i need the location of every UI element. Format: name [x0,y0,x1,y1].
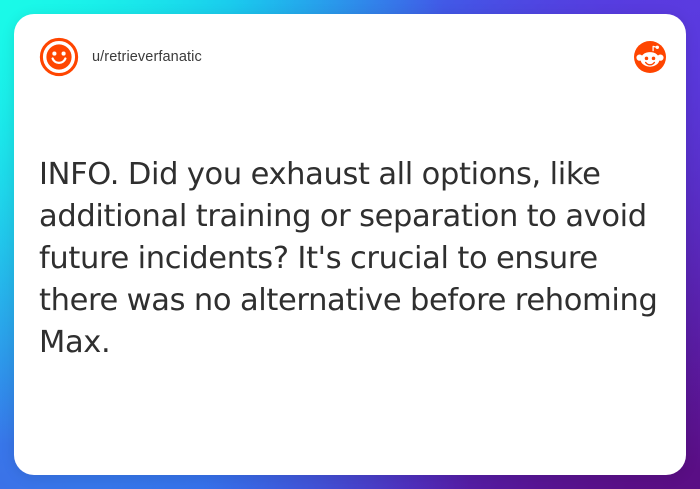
post-text: INFO. Did you exhaust all options, like … [39,154,664,364]
smiley-face-avatar-icon [39,37,79,77]
card-header: u/retrieverfanatic [14,14,686,100]
card-body: INFO. Did you exhaust all options, like … [39,154,664,364]
username-label: u/retrieverfanatic [92,49,634,65]
reddit-comment-card: u/retrieverfanatic [14,14,686,475]
avatar[interactable] [39,37,79,77]
gradient-background: u/retrieverfanatic [0,0,700,489]
reddit-logo[interactable] [634,41,666,73]
reddit-snoo-logo-icon [634,41,666,73]
